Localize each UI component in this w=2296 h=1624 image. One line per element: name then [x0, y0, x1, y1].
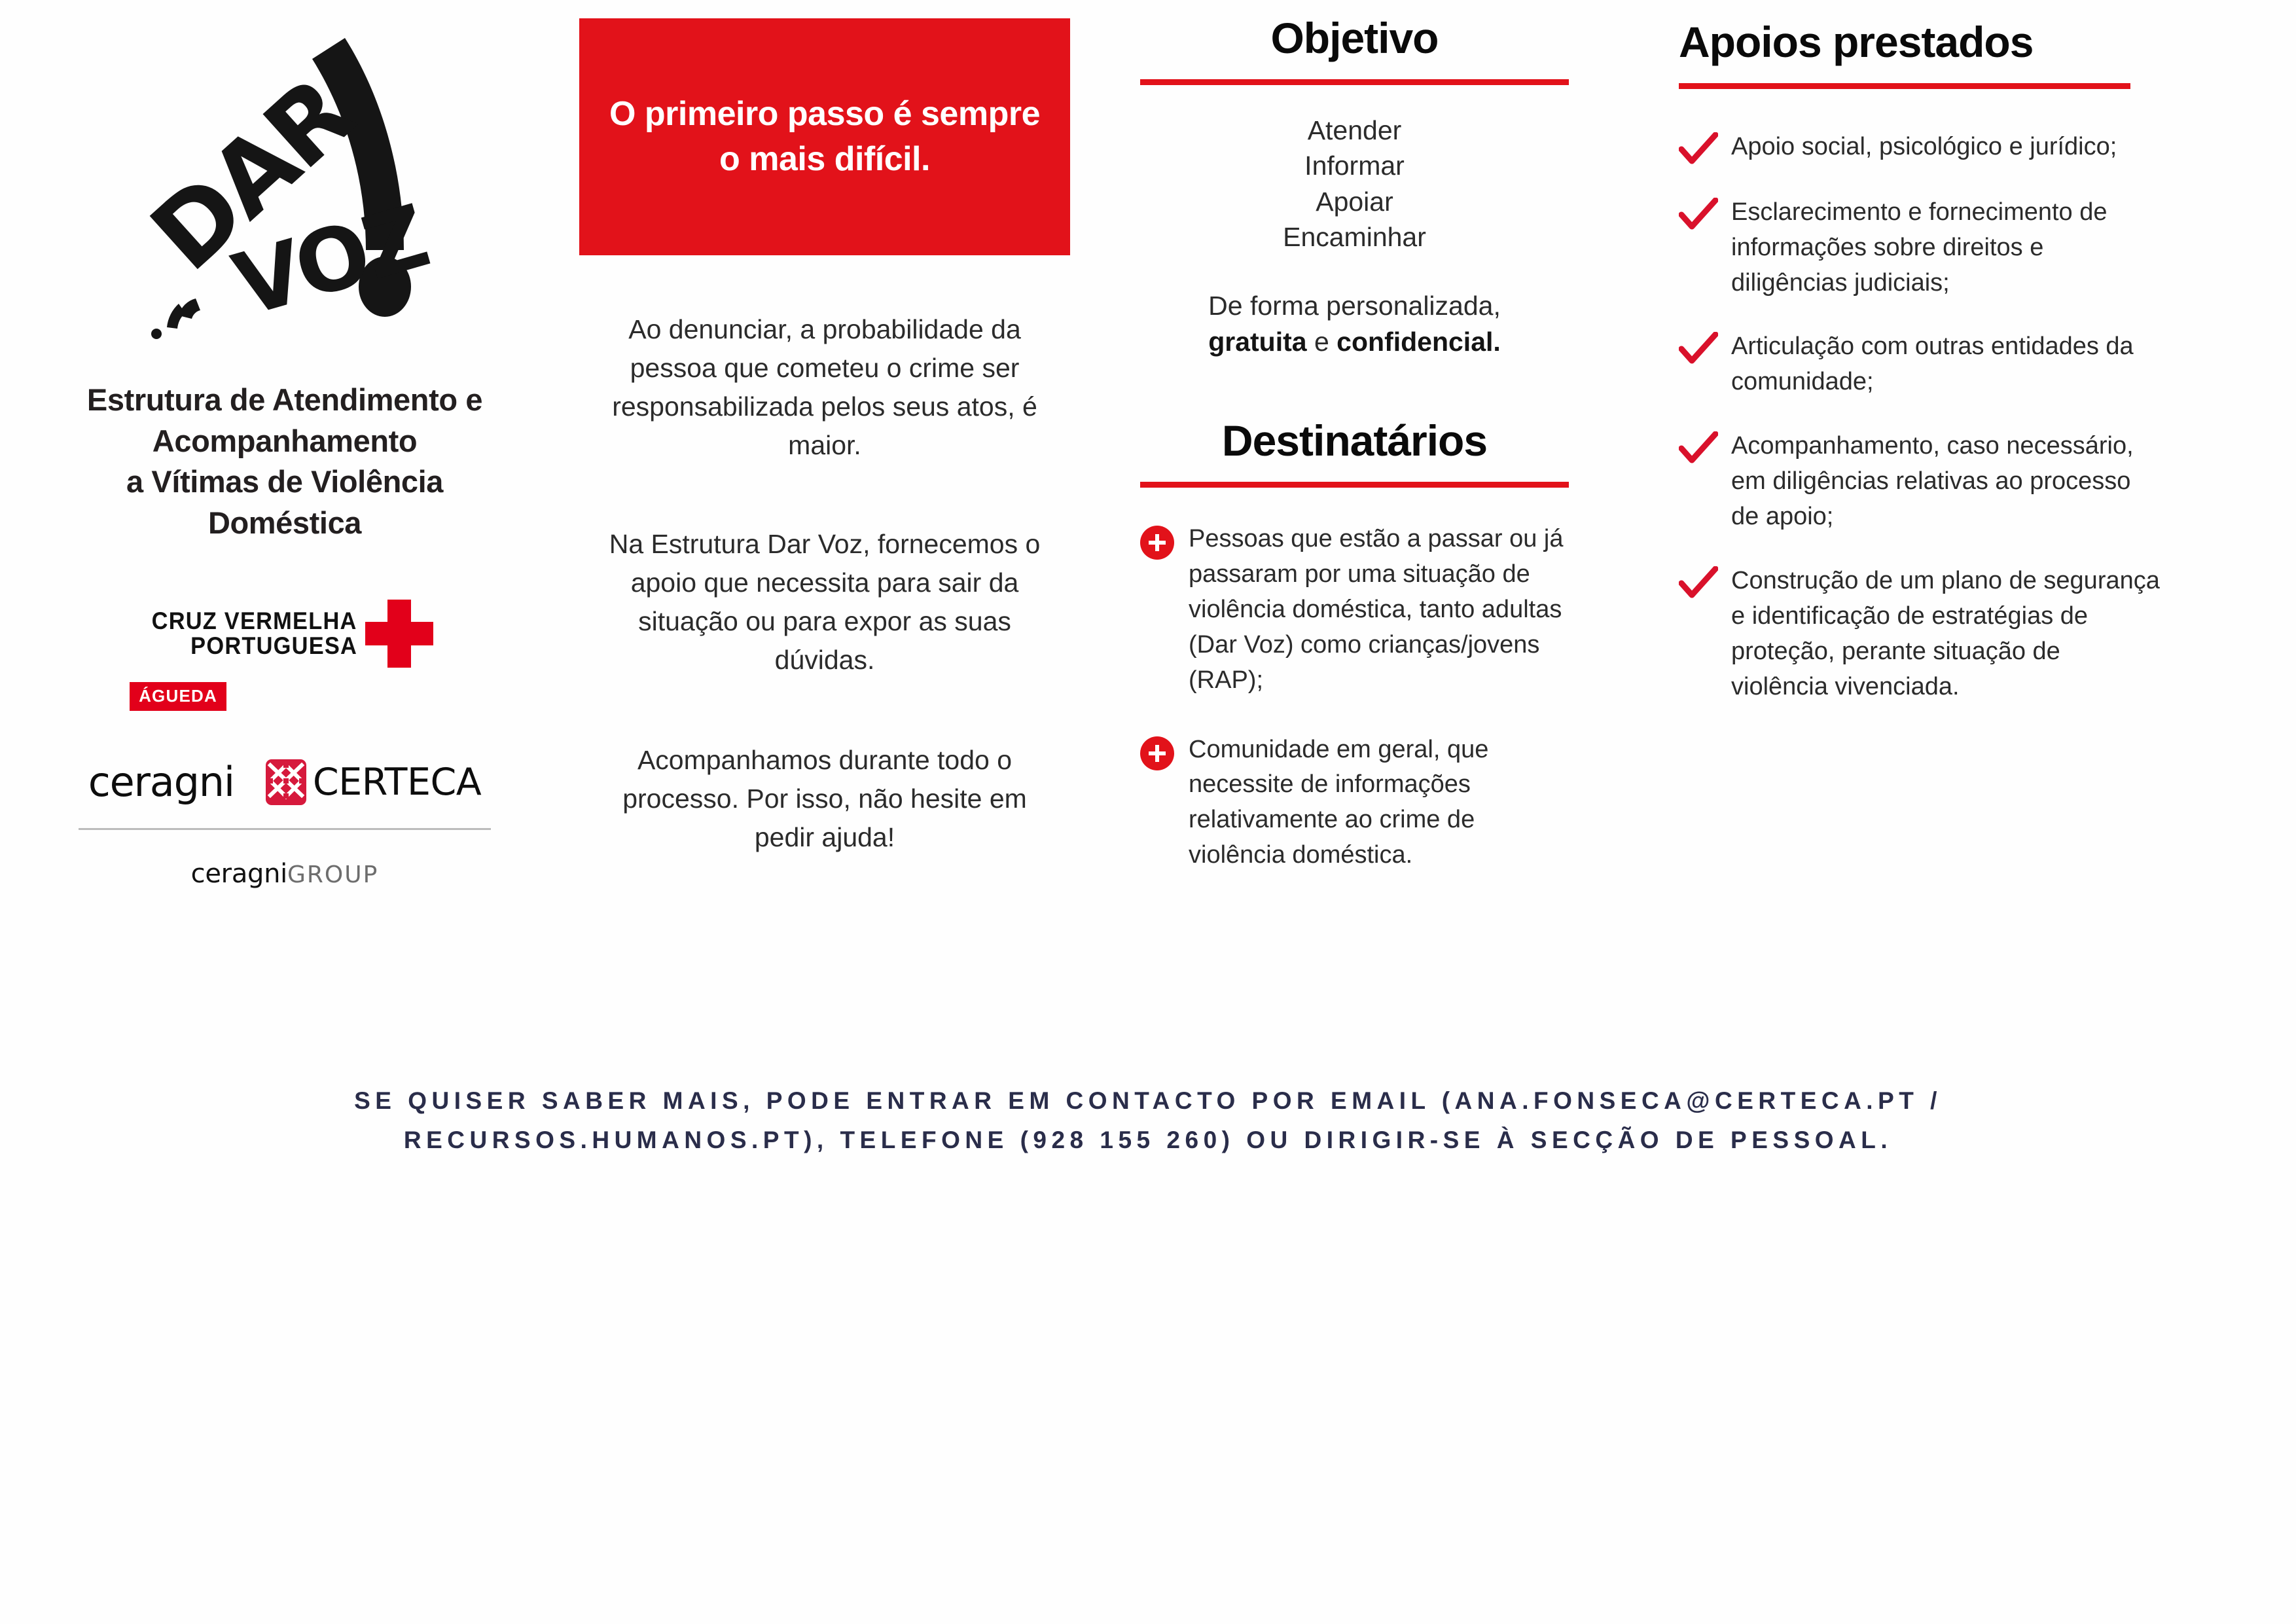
- flyer-page: DAR VOZ Estrutura de Atendimento e Acomp…: [0, 0, 2296, 1624]
- objetivo-note-line-1: De forma personalizada,: [1140, 288, 1569, 325]
- dar-voz-logo-icon: DAR VOZ: [101, 20, 468, 373]
- contact-footer: SE QUISER SABER MAIS, PODE ENTRAR EM CON…: [0, 1081, 2296, 1160]
- objetivo-note-line-2: gratuita e confidencial.: [1140, 324, 1569, 361]
- brand-title-line-1: Estrutura de Atendimento e: [48, 380, 521, 421]
- message-paragraph-1: Ao denunciar, a probabilidade da pessoa …: [579, 310, 1070, 465]
- certeca-lockup: CERTECA: [266, 759, 481, 805]
- apoios-item-text: Acompanhamento, caso necessário, em dili…: [1731, 429, 2163, 535]
- destinatarios-item-text: Comunidade em geral, que necessite de in…: [1189, 732, 1569, 874]
- apoios-list: Apoio social, psicológico e jurídico; Es…: [1679, 130, 2163, 705]
- cruz-vermelha-wordmark: CRUZ VERMELHA PORTUGUESA: [136, 609, 357, 658]
- certeca-logo: CERTECA: [313, 761, 481, 804]
- red-cross-icon: [365, 600, 433, 668]
- objetivo-heading: Objetivo: [1140, 14, 1569, 62]
- objetivo-note-conjunction: e: [1307, 327, 1337, 357]
- apoios-item-text: Construção de um plano de segurança e id…: [1731, 564, 2163, 705]
- objetivo-item: Informar: [1140, 148, 1569, 184]
- check-icon: [1679, 132, 1718, 166]
- list-item: Apoio social, psicológico e jurídico;: [1679, 130, 2163, 166]
- list-item: Esclarecimento e fornecimento de informa…: [1679, 195, 2163, 301]
- brand-title-line-3: a Vítimas de Violência: [48, 461, 521, 503]
- ceragni-group-suffix: GROUP: [287, 861, 378, 888]
- objetivo-item: Atender: [1140, 113, 1569, 149]
- brand-title-line-2: Acompanhamento: [48, 421, 521, 462]
- brand-title-line-4: Doméstica: [48, 503, 521, 544]
- destinatarios-section: Destinatários Pessoas que estão a passar…: [1140, 417, 1569, 873]
- apoios-item-text: Articulação com outras entidades da comu…: [1731, 329, 2163, 400]
- cruz-vermelha-logo: CRUZ VERMELHA PORTUGUESA ÁGUEDA: [26, 600, 543, 711]
- cruz-vermelha-line-2: PORTUGUESA: [190, 634, 357, 659]
- message-paragraph-2: Na Estrutura Dar Voz, fornecemos o apoio…: [579, 525, 1070, 679]
- objetivo-heading-rule: [1140, 79, 1569, 85]
- objetivo-item: Encaminhar: [1140, 219, 1569, 255]
- check-icon: [1679, 332, 1718, 366]
- partner-divider: [79, 828, 491, 830]
- objetivo-note-bold-confidencial: confidencial.: [1336, 327, 1501, 357]
- objetivo-note-bold-gratuita: gratuita: [1208, 327, 1306, 357]
- list-item: Acompanhamento, caso necessário, em dili…: [1679, 429, 2163, 535]
- ceragni-group-logo: ceragniGROUP: [26, 859, 543, 889]
- brand-title: Estrutura de Atendimento e Acompanhament…: [26, 380, 543, 543]
- brand-column: DAR VOZ Estrutura de Atendimento e Acomp…: [26, 20, 543, 889]
- objetivo-destinatarios-column: Objetivo Atender Informar Apoiar Encamin…: [1140, 14, 1569, 873]
- certeca-mark-icon: [266, 759, 306, 805]
- contact-footer-line-1: SE QUISER SABER MAIS, PODE ENTRAR EM CON…: [0, 1081, 2296, 1121]
- cruz-vermelha-line-1: CRUZ VERMELHA: [152, 609, 357, 634]
- agueda-badge: ÁGUEDA: [130, 682, 226, 711]
- apoios-item-text: Esclarecimento e fornecimento de informa…: [1731, 195, 2163, 301]
- apoios-item-text: Apoio social, psicológico e jurídico;: [1731, 130, 2117, 165]
- destinatarios-heading-rule: [1140, 482, 1569, 488]
- objetivo-list: Atender Informar Apoiar Encaminhar: [1140, 113, 1569, 255]
- destinatarios-heading: Destinatários: [1140, 417, 1569, 465]
- objetivo-section: Objetivo Atender Informar Apoiar Encamin…: [1140, 14, 1569, 361]
- list-item: Articulação com outras entidades da comu…: [1679, 329, 2163, 400]
- list-item: Construção de um plano de segurança e id…: [1679, 564, 2163, 705]
- message-column: O primeiro passo é sempre o mais difícil…: [579, 18, 1070, 857]
- cruz-vermelha-lockup: CRUZ VERMELHA PORTUGUESA: [136, 600, 433, 668]
- apoios-column: Apoios prestados Apoio social, psicológi…: [1679, 18, 2163, 734]
- ceragni-logo: ceragni: [88, 758, 234, 806]
- message-paragraph-3: Acompanhamos durante todo o processo. Po…: [579, 741, 1070, 857]
- headline-banner-text: O primeiro passo é sempre o mais difícil…: [601, 92, 1048, 181]
- headline-banner: O primeiro passo é sempre o mais difícil…: [579, 18, 1070, 255]
- ceragni-group-name: ceragni: [191, 859, 287, 889]
- list-item: Pessoas que estão a passar ou já passara…: [1140, 522, 1569, 698]
- check-icon: [1679, 431, 1718, 465]
- list-item: Comunidade em geral, que necessite de in…: [1140, 732, 1569, 874]
- plus-circle-icon: [1140, 526, 1174, 560]
- apoios-heading: Apoios prestados: [1679, 18, 2163, 66]
- destinatarios-item-text: Pessoas que estão a passar ou já passara…: [1189, 522, 1569, 698]
- plus-circle-icon: [1140, 736, 1174, 770]
- apoios-heading-rule: [1679, 83, 2130, 89]
- partner-logos: ceragni: [26, 758, 543, 806]
- check-icon: [1679, 198, 1718, 232]
- contact-footer-line-2: RECURSOS.HUMANOS.PT), TELEFONE (928 155 …: [0, 1121, 2296, 1160]
- check-icon: [1679, 566, 1718, 600]
- objetivo-note: De forma personalizada, gratuita e confi…: [1140, 288, 1569, 361]
- objetivo-item: Apoiar: [1140, 184, 1569, 220]
